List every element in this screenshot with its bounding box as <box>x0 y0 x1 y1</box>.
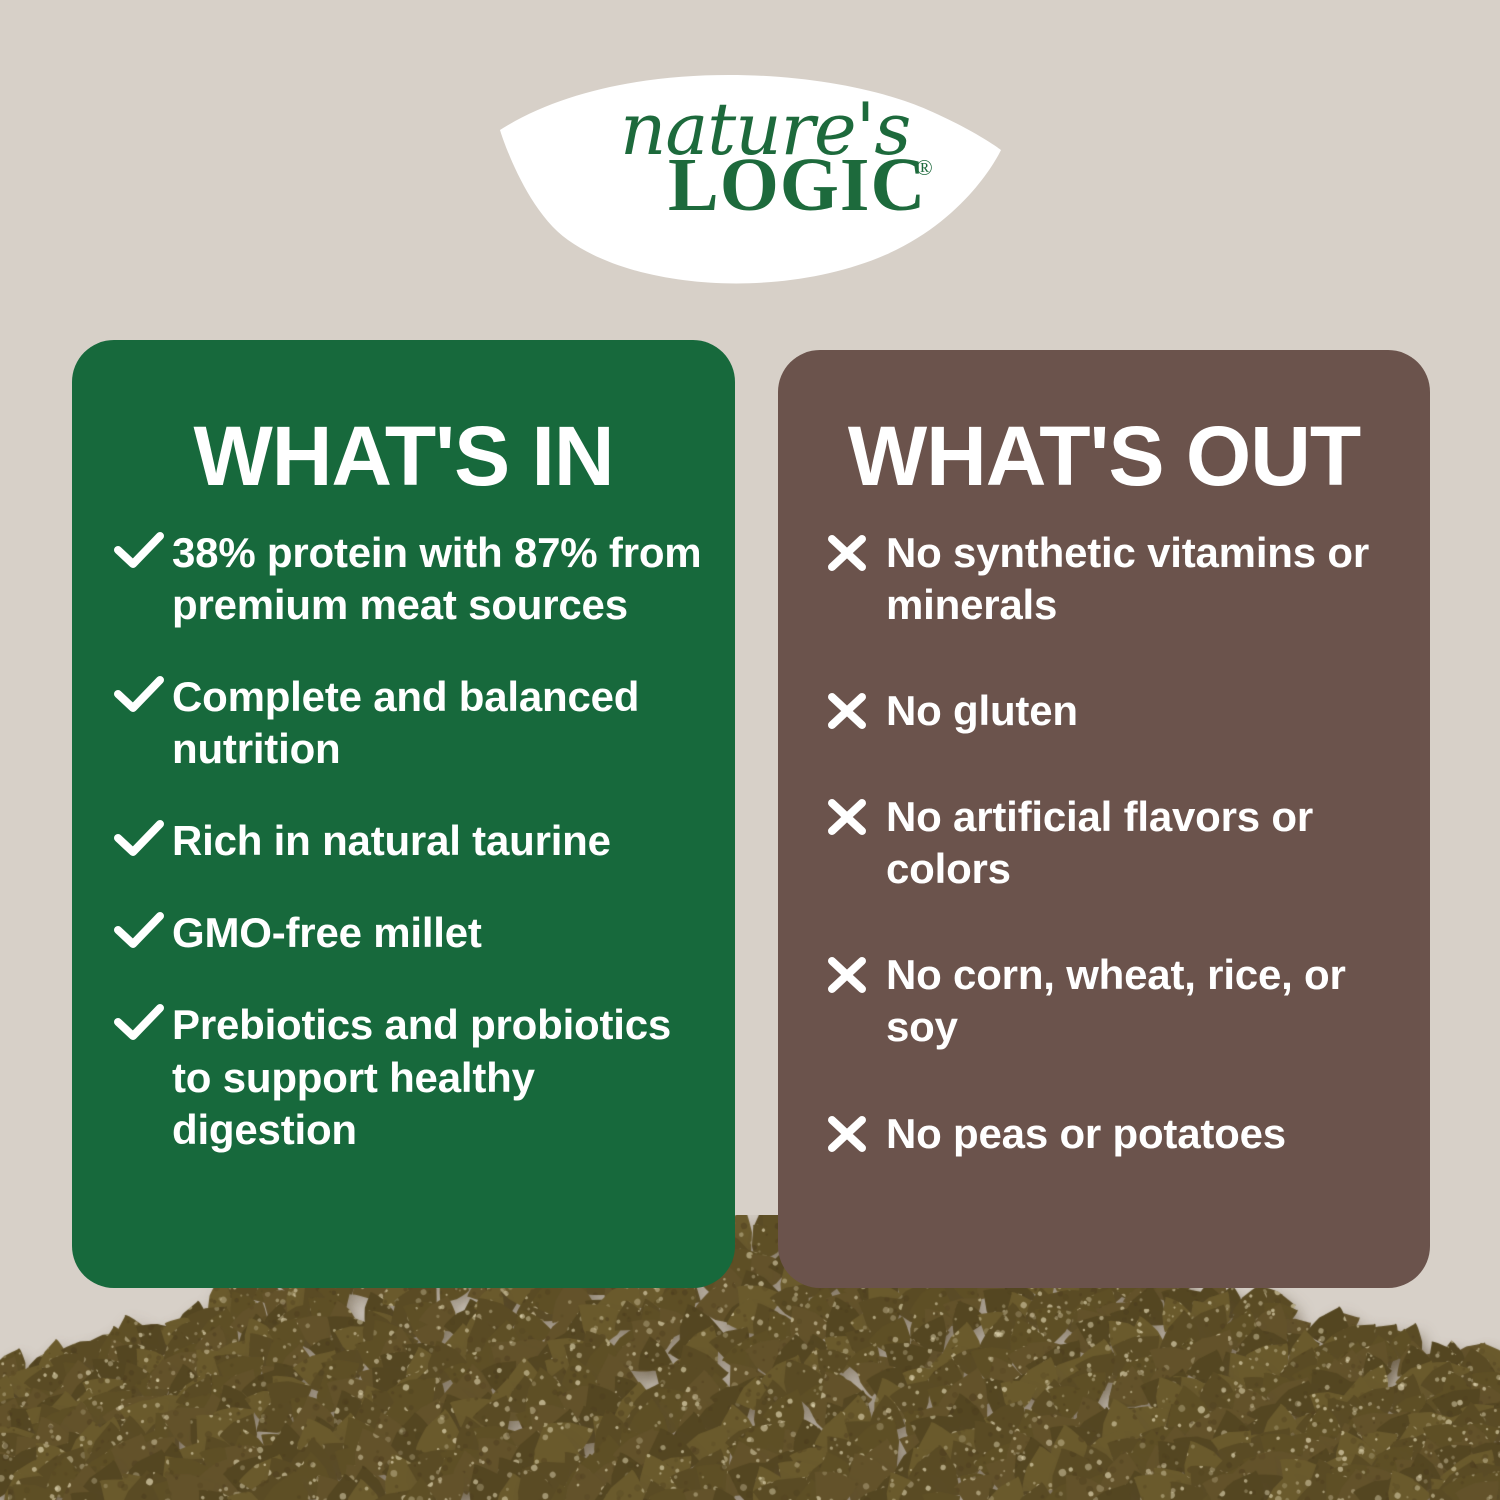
whats-in-list: 38% protein with 87% from premium meat s… <box>72 527 735 1196</box>
whats-in-title: WHAT'S IN <box>72 414 735 498</box>
whats-out-title: WHAT'S OUT <box>778 414 1430 498</box>
list-item: Prebiotics and probiotics to support hea… <box>114 999 713 1155</box>
list-item: Complete and balanced nutrition <box>114 671 713 775</box>
list-item: Rich in natural taurine <box>114 815 713 867</box>
list-item-label: No artificial flavors or colors <box>886 791 1408 895</box>
list-item: No synthetic vitamins or minerals <box>826 527 1408 631</box>
list-item-label: 38% protein with 87% from premium meat s… <box>172 527 713 631</box>
list-item-label: No peas or potatoes <box>886 1108 1286 1160</box>
list-item: No peas or potatoes <box>826 1108 1408 1160</box>
cross-icon <box>826 791 886 837</box>
list-item-label: No corn, wheat, rice, or soy <box>886 949 1408 1053</box>
registered-trademark-icon: ® <box>916 155 933 181</box>
list-item: GMO-free millet <box>114 907 713 959</box>
list-item: No artificial flavors or colors <box>826 791 1408 895</box>
list-item-label: No synthetic vitamins or minerals <box>886 527 1408 631</box>
check-icon <box>114 999 172 1043</box>
whats-out-panel: WHAT'S OUT No synthetic vitamins or mine… <box>778 350 1430 1288</box>
check-icon <box>114 527 172 571</box>
list-item-label: GMO-free millet <box>172 907 482 959</box>
cross-icon <box>826 949 886 995</box>
list-item-label: Complete and balanced nutrition <box>172 671 713 775</box>
list-item: 38% protein with 87% from premium meat s… <box>114 527 713 631</box>
check-icon <box>114 907 172 951</box>
logo-wordmark-text: LOGIC <box>668 147 926 223</box>
check-icon <box>114 671 172 715</box>
check-icon <box>114 815 172 859</box>
list-item-label: No gluten <box>886 685 1078 737</box>
whats-out-list: No synthetic vitamins or minerals No glu… <box>778 527 1430 1214</box>
list-item: No gluten <box>826 685 1408 737</box>
brand-logo: nature's LOGIC ® <box>0 0 1500 320</box>
whats-in-panel: WHAT'S IN 38% protein with 87% from prem… <box>72 340 735 1288</box>
cross-icon <box>826 527 886 573</box>
list-item-label: Rich in natural taurine <box>172 815 611 867</box>
cross-icon <box>826 685 886 731</box>
list-item-label: Prebiotics and probiotics to support hea… <box>172 999 713 1155</box>
list-item: No corn, wheat, rice, or soy <box>826 949 1408 1053</box>
cross-icon <box>826 1108 886 1154</box>
